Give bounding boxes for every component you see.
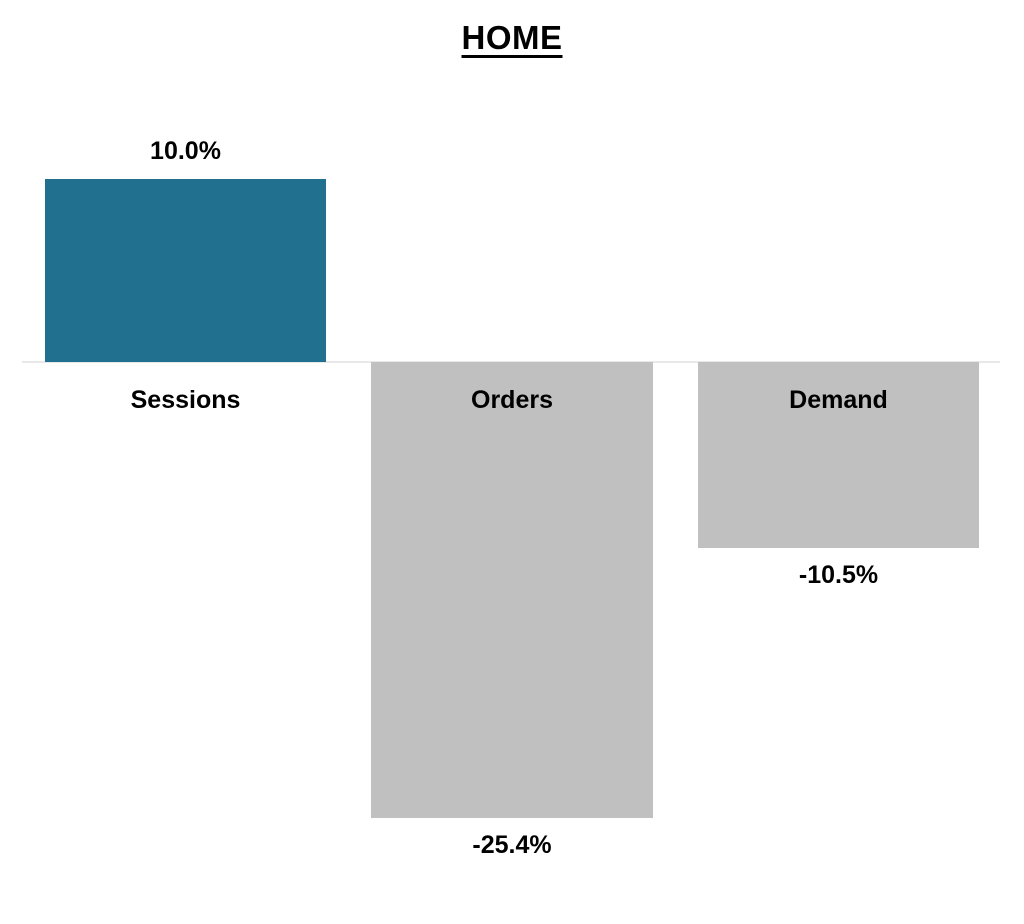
category-label-demand: Demand xyxy=(698,388,979,413)
category-label-orders: Orders xyxy=(371,388,653,413)
category-label-sessions: Sessions xyxy=(45,388,326,413)
bar-sessions[interactable] xyxy=(45,179,326,362)
value-label-sessions: 10.0% xyxy=(45,139,326,164)
bar-chart: HOME Sessions Orders Demand 10.0% -25.4%… xyxy=(0,0,1024,924)
value-label-orders: -25.4% xyxy=(371,833,653,858)
plot-area: Sessions Orders Demand 10.0% -25.4% -10.… xyxy=(0,0,1024,924)
bar-orders[interactable] xyxy=(371,362,653,818)
value-label-demand: -10.5% xyxy=(698,563,979,588)
